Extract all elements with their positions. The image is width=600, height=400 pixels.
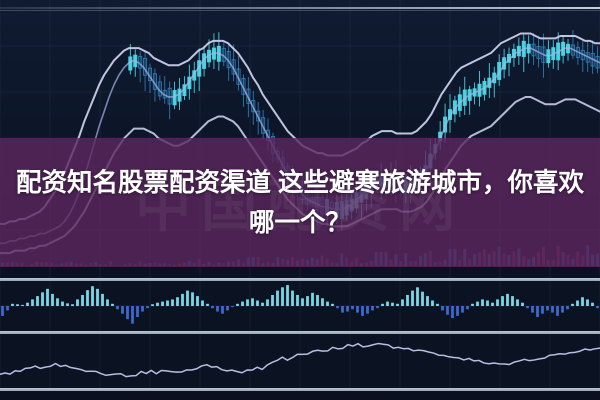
- headline-line-2: 哪一个？: [249, 203, 351, 243]
- divider-trend-footer: [0, 388, 600, 391]
- headline-line-1: 配资知名股票配资渠道 这些避寒旅游城市，你喜欢: [16, 163, 584, 203]
- trend-indicator-svg: [0, 334, 600, 388]
- divider-macd-trend: [0, 331, 600, 334]
- headline-text: 配资知名股票配资渠道 这些避寒旅游城市，你喜欢 哪一个？: [0, 138, 600, 267]
- trend-indicator-panel: [0, 334, 600, 388]
- macd-histogram-panel: [0, 281, 600, 331]
- chart-top-rule-secondary: [0, 10, 600, 11]
- chart-top-rule: [0, 7, 600, 9]
- macd-histogram-svg: [0, 281, 600, 331]
- stock-chart-banner: 中国配资网 配资知名股票配资渠道 这些避寒旅游城市，你喜欢 哪一个？: [0, 0, 600, 400]
- footer-band: [0, 391, 600, 400]
- divider-price-macd: [0, 278, 600, 281]
